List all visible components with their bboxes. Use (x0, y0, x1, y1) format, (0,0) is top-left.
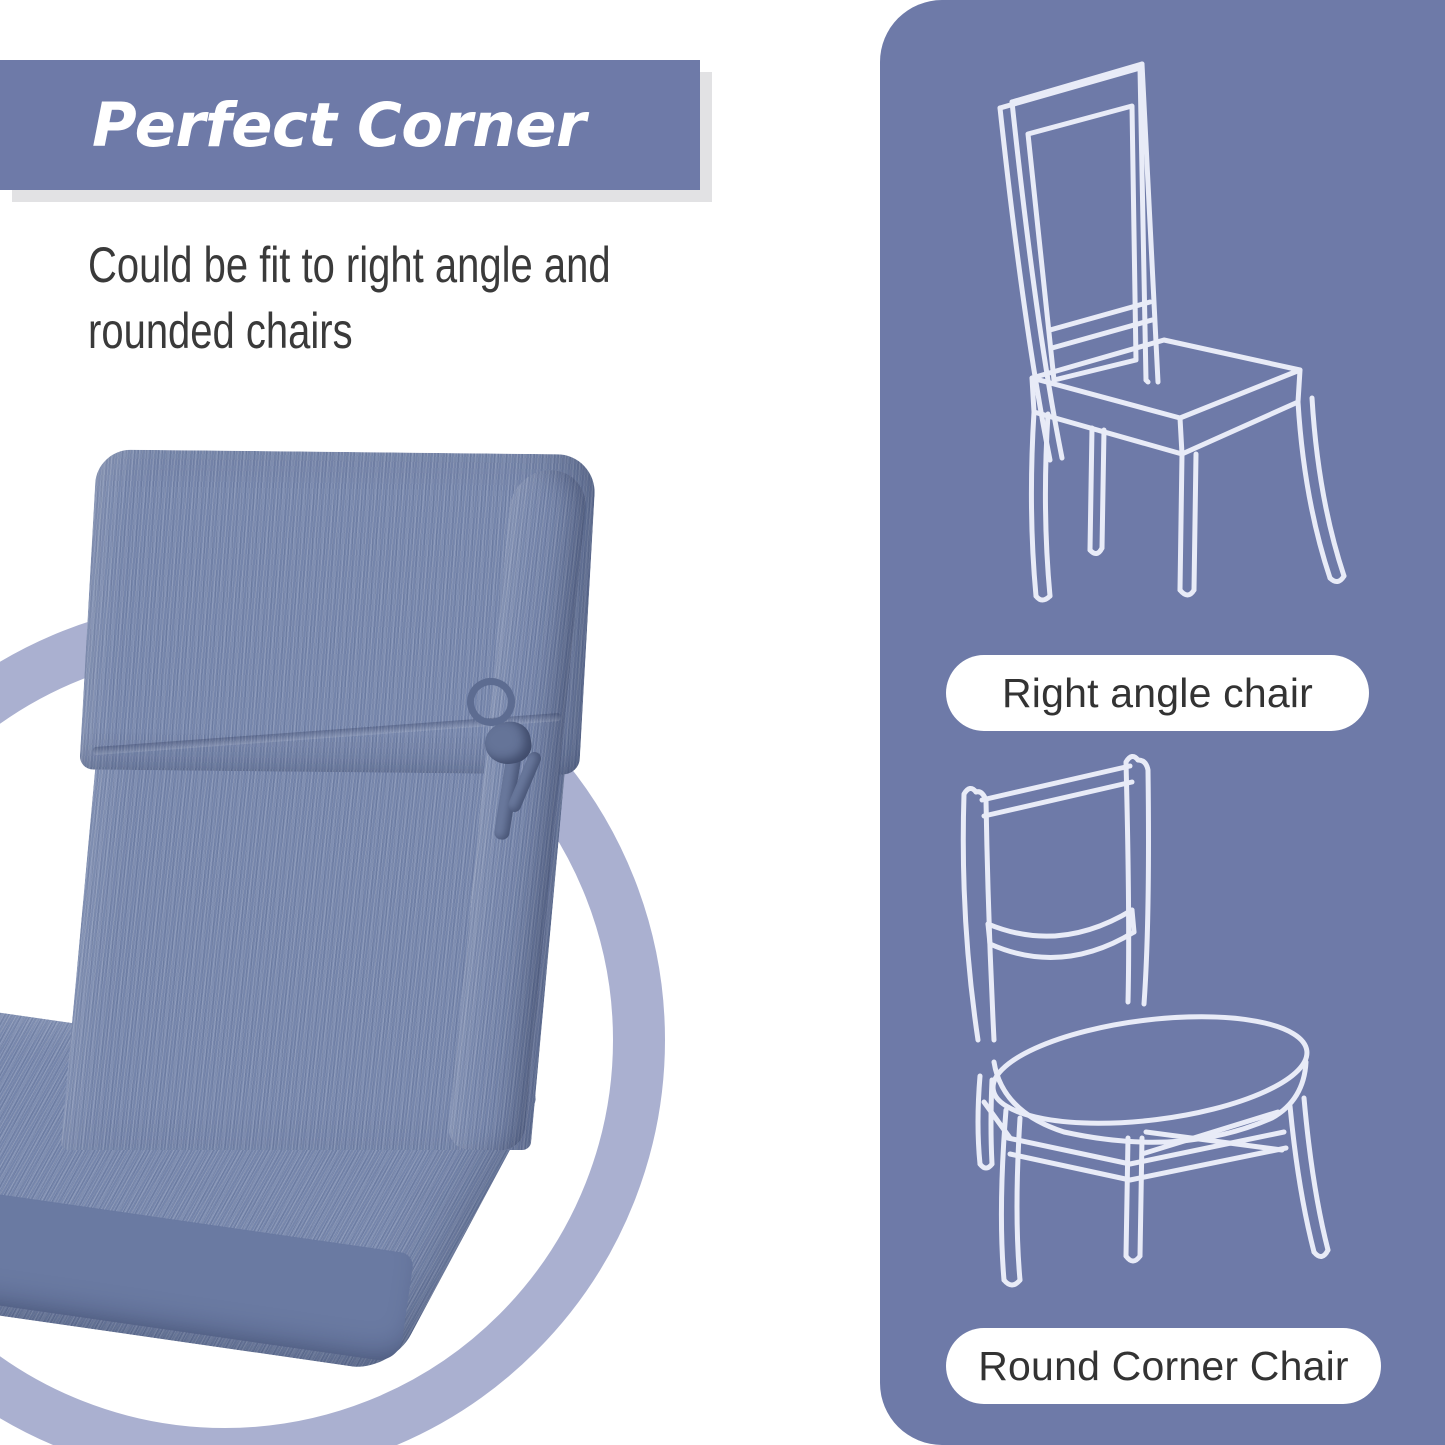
right-angle-chair-icon (932, 30, 1392, 630)
product-infographic: Perfect Corner Could be fit to right ang… (0, 0, 1445, 1445)
label-round-corner-chair: Round Corner Chair (946, 1328, 1381, 1404)
label-right-angle-chair-text: Right angle chair (1002, 670, 1313, 717)
page-title: Perfect Corner (92, 95, 586, 156)
round-corner-chair-icon (932, 740, 1392, 1320)
title-banner: Perfect Corner (0, 60, 700, 190)
left-content-column: Perfect Corner Could be fit to right ang… (0, 0, 880, 1445)
label-right-angle-chair: Right angle chair (946, 655, 1369, 731)
subtitle-text: Could be fit to right angle and rounded … (88, 232, 696, 364)
label-round-corner-chair-text: Round Corner Chair (978, 1343, 1349, 1390)
chair-examples-panel: Right angle chair (880, 0, 1445, 1445)
cushion-product-image (0, 430, 640, 1400)
